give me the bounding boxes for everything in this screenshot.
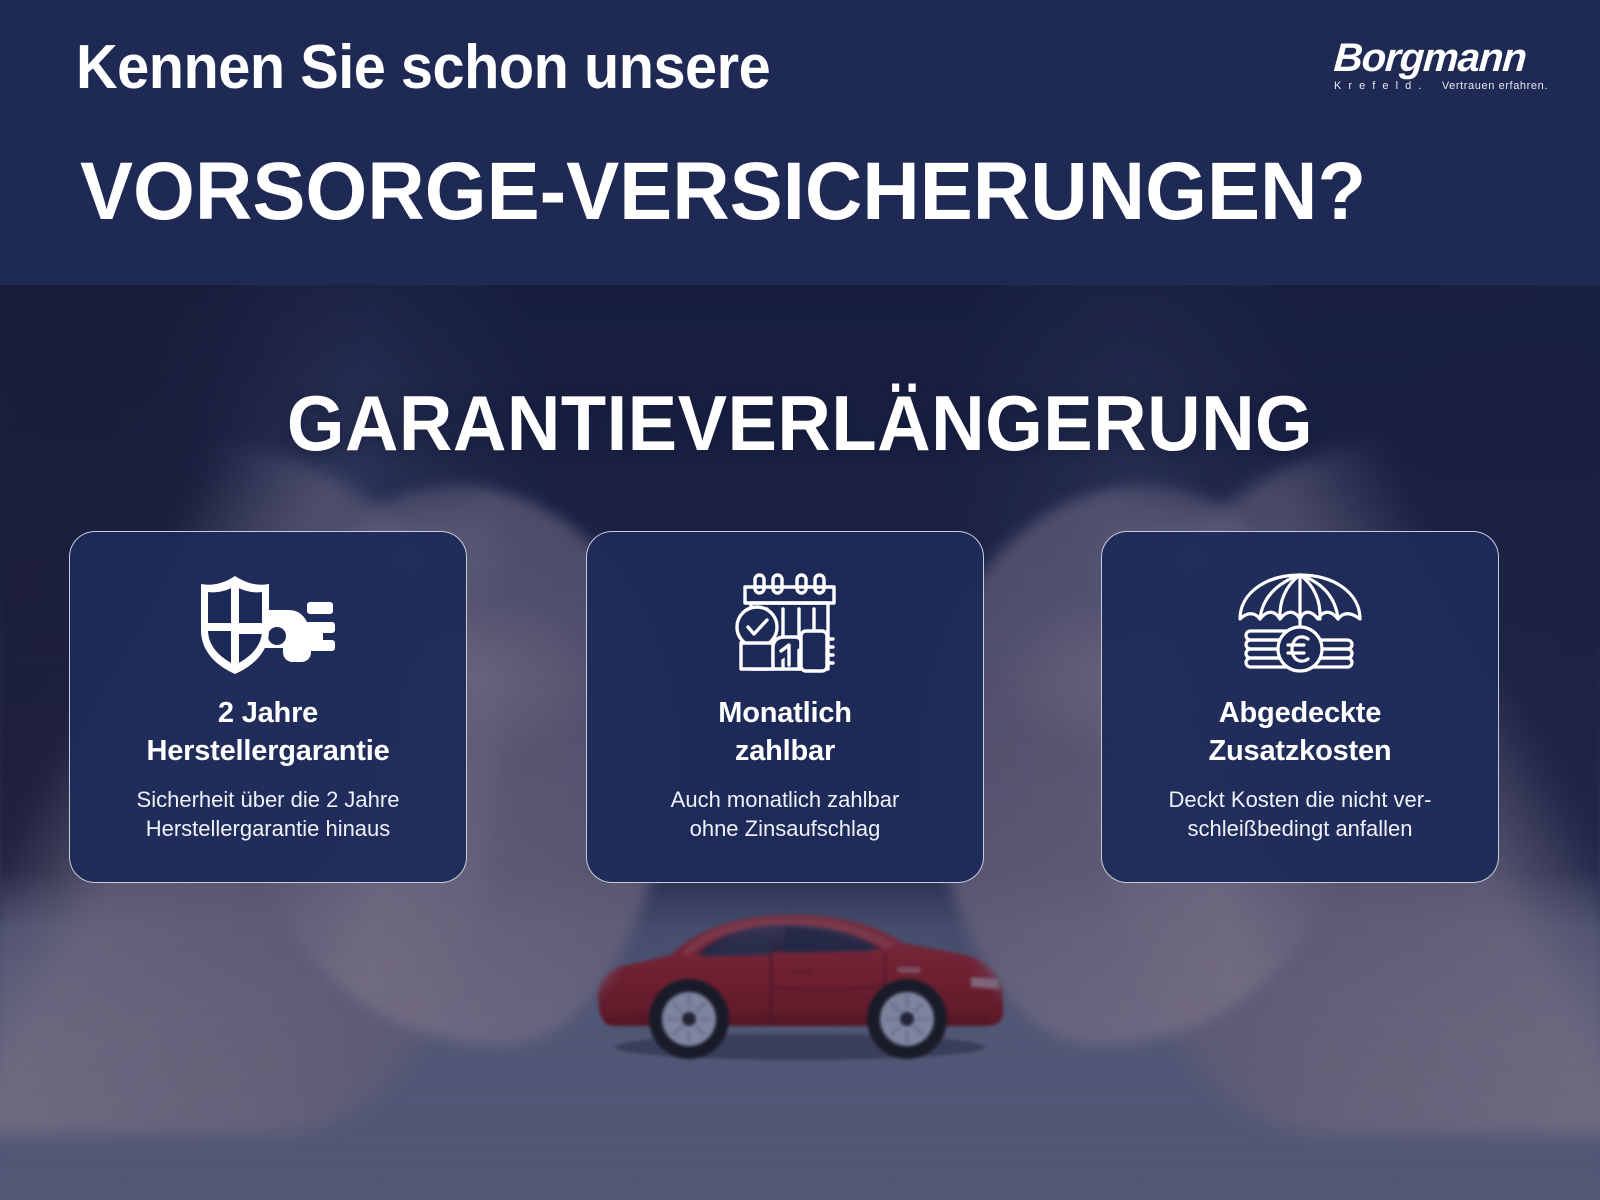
page-title: GARANTIEVERLÄNGERUNG <box>40 378 1560 469</box>
feature-card-title-line2: Zusatzkosten <box>1209 732 1392 770</box>
feature-card-extra-costs[interactable]: Abgedeckte Zusatzkosten Deckt Kosten die… <box>1101 531 1499 883</box>
feature-card-title-line2: zahlbar <box>718 732 852 770</box>
feature-card-description: Sicherheit über die 2 Jahre Herstellerga… <box>137 785 400 843</box>
borgmann-logo[interactable]: Borgmann K r e f e l d . Vertrauen erfah… <box>1334 38 1554 108</box>
logo-wordmark: Borgmann <box>1333 38 1556 78</box>
logo-tagline-left: K r e f e l d . <box>1334 80 1423 92</box>
feature-card-desc-line2: Herstellergarantie hinaus <box>137 814 400 843</box>
feature-card-title-line1: Monatlich <box>718 694 852 732</box>
headline-large: VORSORGE-VERSICHERUNGEN? <box>80 145 1366 239</box>
feature-card-desc-line2: schleißbedingt anfallen <box>1169 814 1432 843</box>
logo-tagline-row: K r e f e l d . Vertrauen erfahren. <box>1334 80 1548 92</box>
feature-card-warranty[interactable]: 2 Jahre Herstellergarantie Sicherheit üb… <box>69 531 467 883</box>
feature-card-list: 2 Jahre Herstellergarantie Sicherheit üb… <box>0 531 1600 886</box>
shield-car-icon <box>193 566 343 684</box>
feature-card-desc-line1: Auch monatlich zahlbar <box>671 785 900 814</box>
logo-tagline-right: Vertrauen erfahren. <box>1442 80 1548 92</box>
feature-card-title: 2 Jahre Herstellergarantie <box>146 694 389 771</box>
feature-card-monthly-payment[interactable]: Monatlich zahlbar Auch monatlich zahlbar… <box>586 531 984 883</box>
calendar-payment-icon <box>721 566 849 684</box>
feature-card-title-line2: Herstellergarantie <box>146 732 389 770</box>
headline-small: Kennen Sie schon unsere <box>76 32 770 103</box>
feature-card-desc-line1: Deckt Kosten die nicht ver- <box>1169 785 1432 814</box>
feature-card-description: Auch monatlich zahlbar ohne Zinsaufschla… <box>671 785 900 843</box>
feature-card-description: Deckt Kosten die nicht ver- schleißbedin… <box>1169 785 1432 843</box>
feature-card-title-line1: Abgedeckte <box>1209 694 1392 732</box>
feature-card-desc-line2: ohne Zinsaufschlag <box>671 814 900 843</box>
banner-stage: Kennen Sie schon unsere VORSORGE-VERSICH… <box>0 0 1600 1200</box>
feature-card-title: Abgedeckte Zusatzkosten <box>1209 694 1392 771</box>
feature-card-desc-line1: Sicherheit über die 2 Jahre <box>137 785 400 814</box>
feature-card-title-line1: 2 Jahre <box>146 694 389 732</box>
feature-card-title: Monatlich zahlbar <box>718 694 852 771</box>
header-band: Kennen Sie schon unsere VORSORGE-VERSICH… <box>0 0 1600 285</box>
umbrella-coins-icon <box>1232 566 1368 684</box>
